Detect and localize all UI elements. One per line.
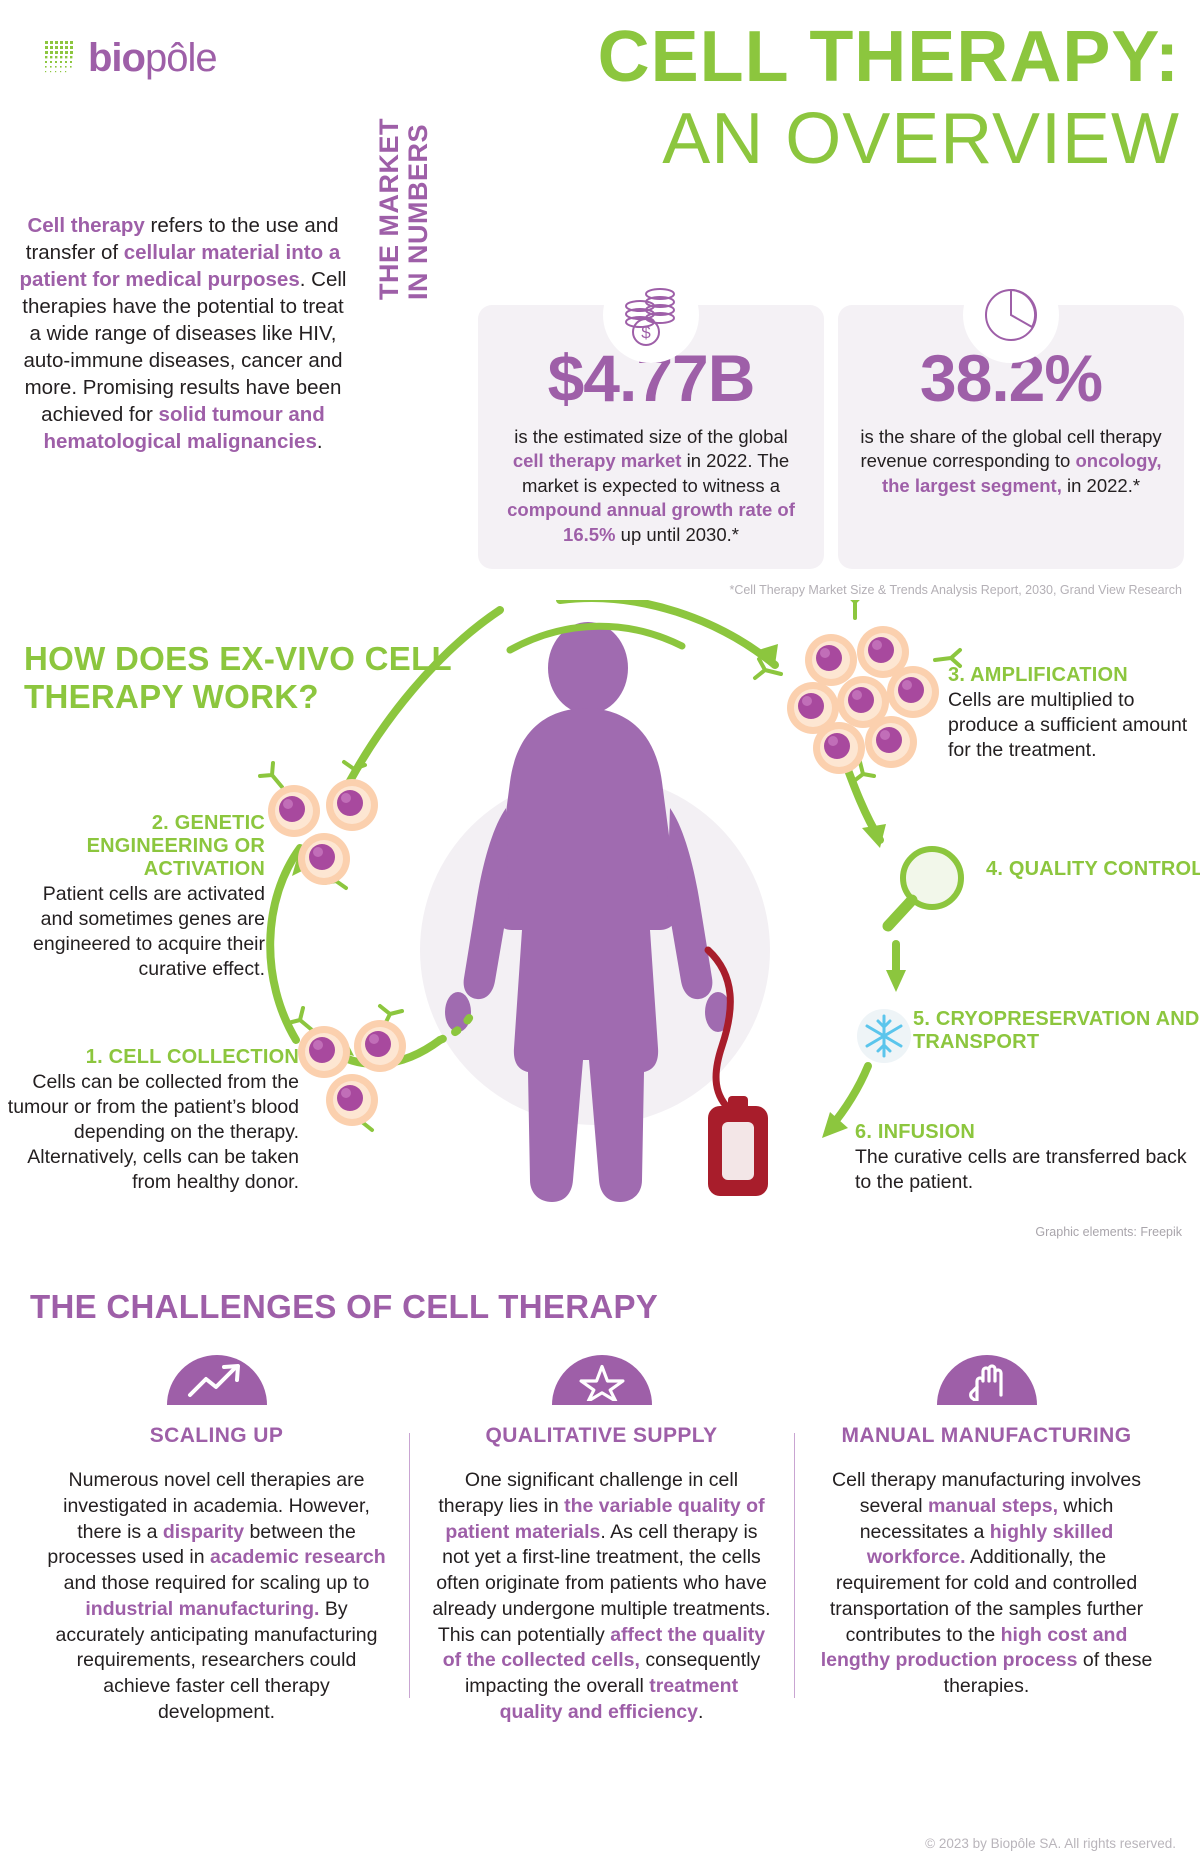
mk1-t-c: in 2022.*: [1062, 475, 1140, 496]
title-line-2: AN OVERVIEW: [420, 100, 1180, 179]
challenge-3-heading: MANUAL MANUFACTURING: [816, 1423, 1157, 1448]
mk0-t-a: is the estimated size of the global: [514, 426, 788, 447]
intro-paragraph: Cell therapy refers to the use and trans…: [18, 212, 348, 455]
challenge-2-heading: QUALITATIVE SUPPLY: [431, 1423, 772, 1448]
mk0-t-b: cell therapy market: [513, 450, 682, 471]
cell-cluster-amplification-icon: [755, 600, 960, 781]
process-step-5: 5. CRYOPRESERVATION AND TRANSPORT: [913, 1008, 1200, 1054]
challenge-manual-manufacturing: MANUAL MANUFACTURING Cell therapy manufa…: [794, 1355, 1179, 1726]
cell-cluster-collection-icon: [288, 1006, 406, 1130]
c0-b: disparity: [163, 1521, 244, 1543]
svg-text:$: $: [641, 323, 651, 342]
challenges-heading: THE CHALLENGES OF CELL THERAPY: [30, 1288, 658, 1326]
process-step-6: 6. INFUSION The curative cells are trans…: [855, 1121, 1200, 1195]
step-1-heading: 1. CELL COLLECTION: [4, 1046, 299, 1069]
title-line-1: CELL THERAPY:: [420, 20, 1180, 96]
intro-text-3: .: [317, 430, 323, 453]
process-step-1: 1. CELL COLLECTION Cells can be collecte…: [4, 1046, 299, 1195]
market-section-label: THE MARKET IN NUMBERS: [375, 50, 435, 300]
growth-arrow-icon: [167, 1355, 267, 1405]
market-label-line-1: THE MARKET: [375, 50, 404, 300]
step-2-heading: 2. GENETIC ENGINEERING OR ACTIVATION: [5, 812, 265, 881]
logo-pole-text: pôle: [145, 36, 217, 80]
challenge-scaling-up: SCALING UP Numerous novel cell therapies…: [24, 1355, 409, 1726]
market-label-line-2: IN NUMBERS: [404, 50, 433, 300]
page-title: CELL THERAPY: AN OVERVIEW: [420, 20, 1180, 179]
intro-hl-1: Cell therapy: [27, 214, 144, 237]
pie-chart-icon: [963, 267, 1059, 363]
market-text-oncology: is the share of the global cell therapy …: [860, 425, 1162, 498]
step-1-body: Cells can be collected from the tumour o…: [4, 1070, 299, 1195]
infographic-page: biopôle CELL THERAPY: AN OVERVIEW Cell t…: [0, 0, 1200, 1876]
biopole-logo: biopôle: [45, 38, 217, 78]
challenge-1-body: Numerous novel cell therapies are invest…: [46, 1468, 387, 1725]
step-5-heading: 5. CRYOPRESERVATION AND TRANSPORT: [913, 1008, 1200, 1054]
star-icon: [552, 1355, 652, 1405]
market-source-note: *Cell Therapy Market Size & Trends Analy…: [729, 583, 1182, 597]
step-4-heading: 4. QUALITY CONTROL: [986, 858, 1200, 881]
market-card-oncology: 38.2% is the share of the global cell th…: [838, 305, 1184, 569]
copyright-text: © 2023 by Biopôle SA. All rights reserve…: [925, 1836, 1176, 1851]
process-step-2: 2. GENETIC ENGINEERING OR ACTIVATION Pat…: [5, 812, 265, 982]
hand-icon: [937, 1355, 1037, 1405]
step-6-heading: 6. INFUSION: [855, 1121, 1200, 1144]
cell-cluster-engineering-icon: [260, 762, 378, 888]
logo-dot-grid-icon: [45, 41, 85, 75]
market-text-revenue: is the estimated size of the global cell…: [500, 425, 802, 547]
graphic-credit: Graphic elements: Freepik: [1035, 1225, 1182, 1239]
challenge-3-body: Cell therapy manufacturing involves seve…: [816, 1468, 1157, 1700]
step-2-body: Patient cells are activated and sometime…: [5, 882, 265, 982]
challenges-grid: SCALING UP Numerous novel cell therapies…: [24, 1355, 1179, 1726]
step-3-body: Cells are multiplied to produce a suffic…: [948, 688, 1200, 763]
market-card-revenue: $ $4.77B is the estimated size of the gl…: [478, 305, 824, 569]
magnifier-icon: [888, 849, 961, 926]
process-step-4: 4. QUALITY CONTROL: [986, 858, 1200, 881]
mk0-t-e: up until 2030.*: [616, 524, 739, 545]
market-cards: $ $4.77B is the estimated size of the gl…: [478, 305, 1184, 569]
c1-g: .: [698, 1701, 703, 1723]
logo-wordmark: biopôle: [88, 38, 217, 78]
logo-bio-text: bio: [88, 36, 145, 80]
c0-e: and those required for scaling up to: [64, 1572, 370, 1594]
step-3-heading: 3. AMPLIFICATION: [948, 664, 1200, 687]
snowflake-icon: [857, 1009, 911, 1063]
challenge-qualitative-supply: QUALITATIVE SUPPLY One significant chall…: [409, 1355, 794, 1726]
step-6-body: The curative cells are transferred back …: [855, 1145, 1200, 1195]
c2-b: manual steps,: [928, 1495, 1058, 1517]
challenge-1-heading: SCALING UP: [46, 1423, 387, 1448]
c0-d: academic research: [210, 1546, 386, 1568]
c0-f: industrial manufacturing.: [85, 1598, 319, 1620]
coins-icon: $: [603, 267, 699, 363]
process-step-3: 3. AMPLIFICATION Cells are multiplied to…: [948, 664, 1200, 763]
challenge-2-body: One significant challenge in cell therap…: [431, 1468, 772, 1725]
